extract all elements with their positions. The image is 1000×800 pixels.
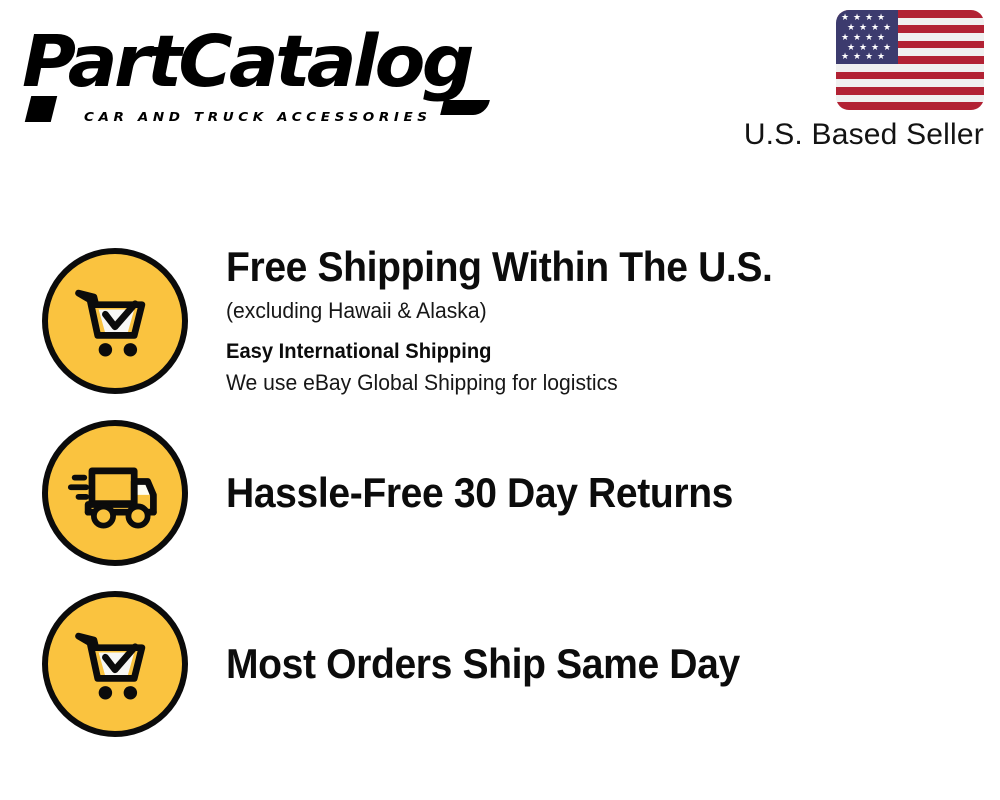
logo-wordmark: PartCatalog [22, 16, 471, 108]
feature-text-block: Free Shipping Within The U.S. (excluding… [226, 244, 1000, 397]
us-flag-icon: ★ ★ ★ ★ ★ ★ ★ ★ ★ ★ ★ ★ ★ ★ ★ ★ ★ ★ ★ ★ [836, 10, 984, 110]
feature-heading: Free Shipping Within The U.S. [226, 244, 927, 289]
feature-heading: Hassle-Free 30 Day Returns [226, 470, 927, 515]
feature-subheading: Easy International Shipping [226, 338, 950, 366]
feature-row: Most Orders Ship Same Day [0, 589, 1000, 739]
feature-list: Free Shipping Within The U.S. (excluding… [0, 180, 1000, 800]
flag-stars: ★ ★ ★ ★ ★ ★ ★ ★ ★ ★ ★ ★ ★ ★ ★ ★ ★ ★ ★ ★ [836, 10, 898, 64]
feature-subheading-detail: We use eBay Global Shipping for logistic… [226, 368, 950, 398]
feature-heading: Most Orders Ship Same Day [226, 641, 927, 686]
feature-text-block: Hassle-Free 30 Day Returns [226, 470, 1000, 515]
us-based-seller-badge: ★ ★ ★ ★ ★ ★ ★ ★ ★ ★ ★ ★ ★ ★ ★ ★ ★ ★ ★ ★ [702, 10, 992, 160]
brand-logo[interactable]: PartCatalog CAR AND TRUCK ACCESSORIES [22, 22, 492, 114]
feature-row: Free Shipping Within The U.S. (excluding… [0, 246, 1000, 396]
us-based-seller-label: U.S. Based Seller [744, 118, 984, 152]
feature-subtitle: (excluding Hawaii & Alaska) [226, 296, 950, 326]
shopping-cart-check-icon [42, 591, 188, 737]
shopping-cart-check-icon [42, 248, 188, 394]
delivery-truck-icon [42, 420, 188, 566]
feature-row: Hassle-Free 30 Day Returns [0, 418, 1000, 568]
feature-text-block: Most Orders Ship Same Day [226, 641, 1000, 686]
page-header: PartCatalog CAR AND TRUCK ACCESSORIES ★ … [0, 0, 1000, 180]
logo-tagline: CAR AND TRUCK ACCESSORIES [84, 110, 432, 125]
